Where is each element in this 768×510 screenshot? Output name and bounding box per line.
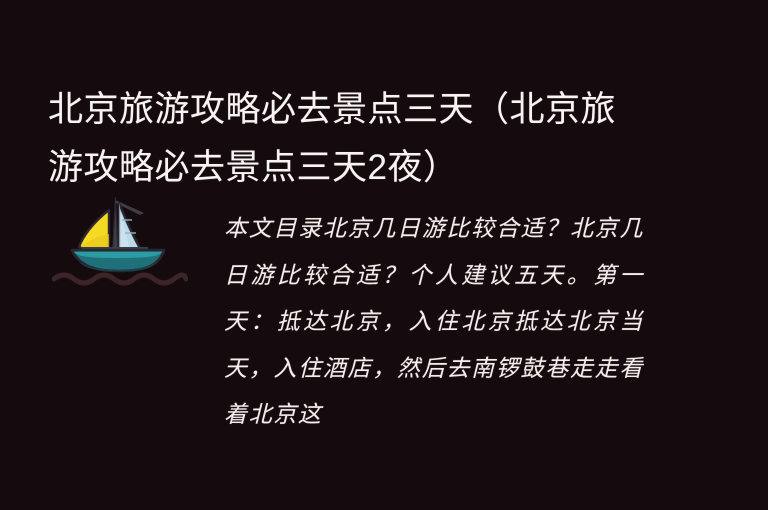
article-card: 北京旅游攻略必去景点三天（北京旅游攻略必去景点三天2夜） — [0, 0, 768, 510]
sailboat-illustration — [52, 190, 188, 286]
article-body-text: 本文目录北京几日游比较合适？北京几日游比较合适？个人建议五天。第一天：抵达北京，… — [224, 206, 644, 438]
page-title: 北京旅游攻略必去景点三天（北京旅游攻略必去景点三天2夜） — [48, 81, 648, 197]
water-waves — [54, 275, 186, 283]
